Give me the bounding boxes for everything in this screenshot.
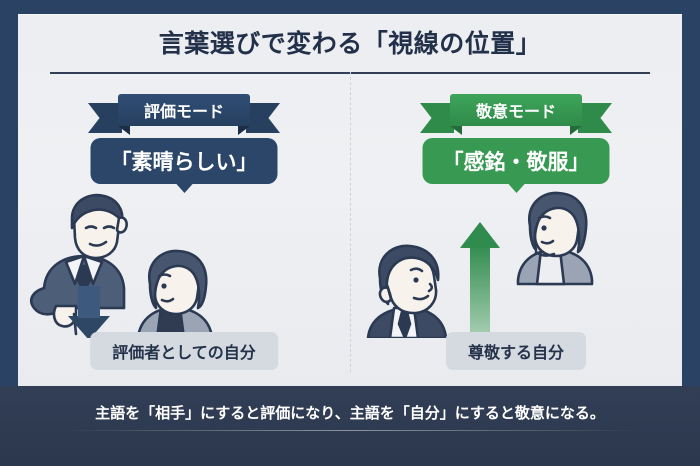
figure-woman-listening (138, 251, 212, 338)
speech-bubble-respect: 「感銘・敬服」 (423, 138, 610, 184)
respect-scene-svg (350, 188, 682, 338)
panel-respect: 敬意モード 「感銘・敬服」 (350, 76, 682, 386)
illustration-evaluation (18, 188, 350, 338)
panel-evaluation: 評価モード 「素晴らしい」 (18, 76, 350, 386)
arrow-up-green (460, 222, 500, 338)
figure-woman-admired (518, 193, 592, 284)
ribbon-tail-right (578, 103, 612, 133)
ribbon-respect-mode: 敬意モード (450, 94, 582, 126)
ribbon-tail-left (420, 103, 454, 133)
figure-man-admiring (368, 246, 446, 338)
evaluation-scene-svg (18, 188, 350, 338)
ribbon-evaluation-mode: 評価モード (118, 94, 250, 126)
content-card: 言葉選びで変わる「視線の位置」 評価モード 「素晴らしい」 (18, 14, 682, 386)
page-title: 言葉選びで変わる「視線の位置」 (18, 24, 682, 60)
footer-divider (60, 430, 640, 431)
ribbon-label: 敬意モード (450, 94, 582, 126)
ribbon-label: 評価モード (118, 94, 250, 126)
ribbon-tail-right (246, 103, 280, 133)
footer-caption: 主語を「相手」にすると評価になり、主語を「自分」にすると敬意になる。 (0, 402, 700, 423)
chip-respecting-self: 尊敬する自分 (446, 332, 586, 370)
infographic-root: 言葉選びで変わる「視線の位置」 評価モード 「素晴らしい」 (0, 0, 700, 466)
illustration-respect (350, 188, 682, 338)
speech-bubble-evaluation: 「素晴らしい」 (91, 138, 278, 184)
ribbon-tail-left (88, 103, 122, 133)
chip-evaluator-self: 評価者としての自分 (90, 332, 278, 370)
footer-band: 主語を「相手」にすると評価になり、主語を「自分」にすると敬意になる。 (0, 386, 700, 466)
